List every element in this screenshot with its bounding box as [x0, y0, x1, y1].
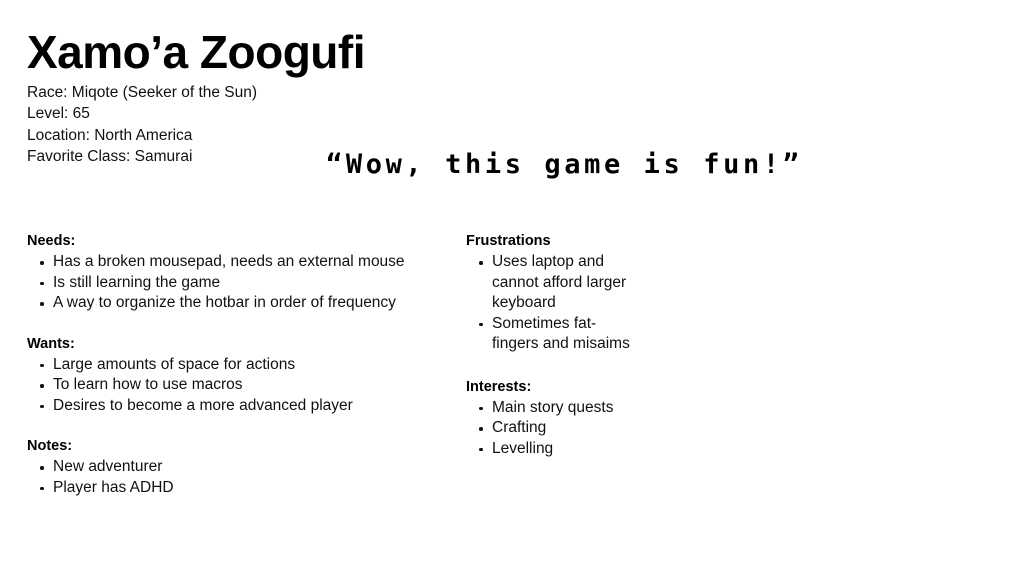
persona-meta-location: Location: North America — [27, 125, 365, 147]
list-item: Levelling — [466, 439, 631, 460]
list-item: Has a broken mousepad, needs an external… — [27, 252, 407, 273]
persona-quote: “Wow, this game is fun!” — [326, 150, 803, 180]
section-heading-frustrations: Frustrations — [466, 231, 641, 251]
list-item: New adventurer — [27, 457, 407, 478]
section-notes: Notes: New adventurer Player has ADHD — [27, 436, 417, 498]
wants-list: Large amounts of space for actions To le… — [27, 355, 417, 417]
right-column: Frustrations Uses laptop and cannot affo… — [466, 231, 641, 459]
persona-meta-class: Favorite Class: Samurai — [27, 146, 365, 168]
list-item: Large amounts of space for actions — [27, 355, 407, 376]
list-item: A way to organize the hotbar in order of… — [27, 293, 407, 314]
persona-meta-list: Race: Miqote (Seeker of the Sun) Level: … — [27, 82, 365, 168]
persona-meta-level: Level: 65 — [27, 103, 365, 125]
list-item: Desires to become a more advanced player — [27, 396, 407, 417]
list-item: Player has ADHD — [27, 478, 407, 499]
list-item: Is still learning the game — [27, 273, 407, 294]
section-heading-wants: Wants: — [27, 334, 417, 354]
list-item: Crafting — [466, 418, 631, 439]
persona-meta-race: Race: Miqote (Seeker of the Sun) — [27, 82, 365, 104]
left-column: Needs: Has a broken mousepad, needs an e… — [27, 231, 417, 498]
section-frustrations: Frustrations Uses laptop and cannot affo… — [466, 231, 641, 355]
interests-list: Main story quests Crafting Levelling — [466, 398, 641, 460]
section-wants: Wants: Large amounts of space for action… — [27, 334, 417, 417]
list-item: To learn how to use macros — [27, 375, 407, 396]
notes-list: New adventurer Player has ADHD — [27, 457, 417, 498]
persona-sheet: Xamo’a Zoogufi Race: Miqote (Seeker of t… — [0, 0, 1024, 576]
section-needs: Needs: Has a broken mousepad, needs an e… — [27, 231, 417, 314]
list-item: Uses laptop and cannot afford larger key… — [466, 252, 631, 314]
section-heading-notes: Notes: — [27, 436, 417, 456]
needs-list: Has a broken mousepad, needs an external… — [27, 252, 417, 314]
section-heading-needs: Needs: — [27, 231, 417, 251]
list-item: Sometimes fat-fingers and misaims — [466, 314, 631, 355]
frustrations-list: Uses laptop and cannot afford larger key… — [466, 252, 641, 355]
page-title: Xamo’a Zoogufi — [27, 28, 365, 78]
section-heading-interests: Interests: — [466, 377, 641, 397]
section-interests: Interests: Main story quests Crafting Le… — [466, 377, 641, 460]
persona-header: Xamo’a Zoogufi Race: Miqote (Seeker of t… — [27, 28, 365, 168]
list-item: Main story quests — [466, 398, 631, 419]
